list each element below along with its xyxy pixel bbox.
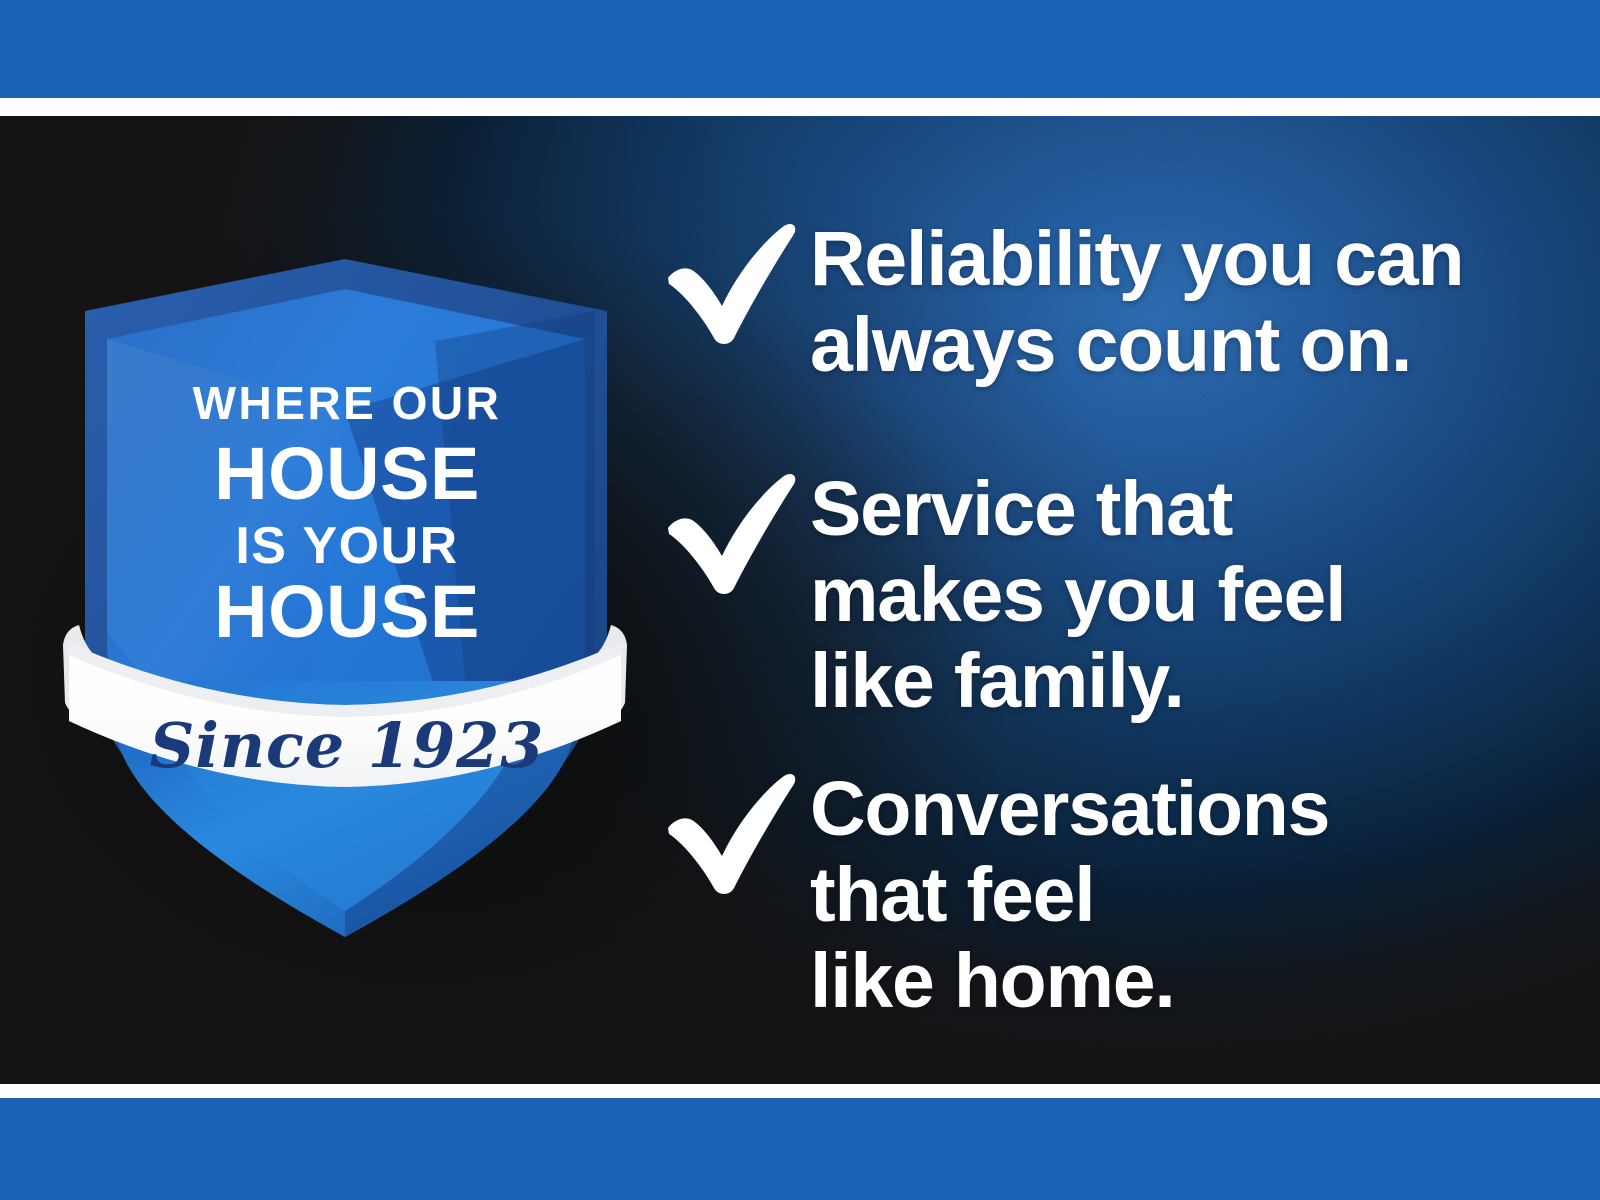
badge-line-4: HOUSE — [214, 570, 480, 653]
badge-line-3: IS YOUR — [235, 517, 458, 575]
benefits-list: Reliability you can always count on. Ser… — [660, 116, 1560, 1084]
check-icon — [660, 766, 810, 896]
main-canvas: WHERE OUR HOUSE IS YOUR HOUSE Since 1923 — [0, 116, 1600, 1084]
list-item-text: Conversations that feel like home. — [810, 766, 1329, 1025]
list-item: Conversations that feel like home. — [660, 766, 1329, 1025]
promo-graphic: WHERE OUR HOUSE IS YOUR HOUSE Since 1923 — [0, 0, 1600, 1200]
top-brand-bar — [0, 0, 1600, 98]
bottom-divider — [0, 1084, 1600, 1098]
top-divider — [0, 98, 1600, 116]
list-item-text: Service that makes you feel like family. — [810, 466, 1345, 725]
check-icon — [660, 466, 810, 596]
brand-shield-badge: WHERE OUR HOUSE IS YOUR HOUSE Since 1923 — [55, 251, 635, 951]
list-item-text: Reliability you can always count on. — [810, 216, 1463, 388]
check-icon — [660, 216, 810, 346]
badge-line-2: HOUSE — [214, 432, 480, 515]
badge-line-1: WHERE OUR — [193, 377, 502, 429]
badge-ribbon-text: Since 1923 — [150, 709, 545, 782]
bottom-brand-bar — [0, 1098, 1600, 1200]
list-item: Reliability you can always count on. — [660, 216, 1463, 388]
list-item: Service that makes you feel like family. — [660, 466, 1345, 725]
